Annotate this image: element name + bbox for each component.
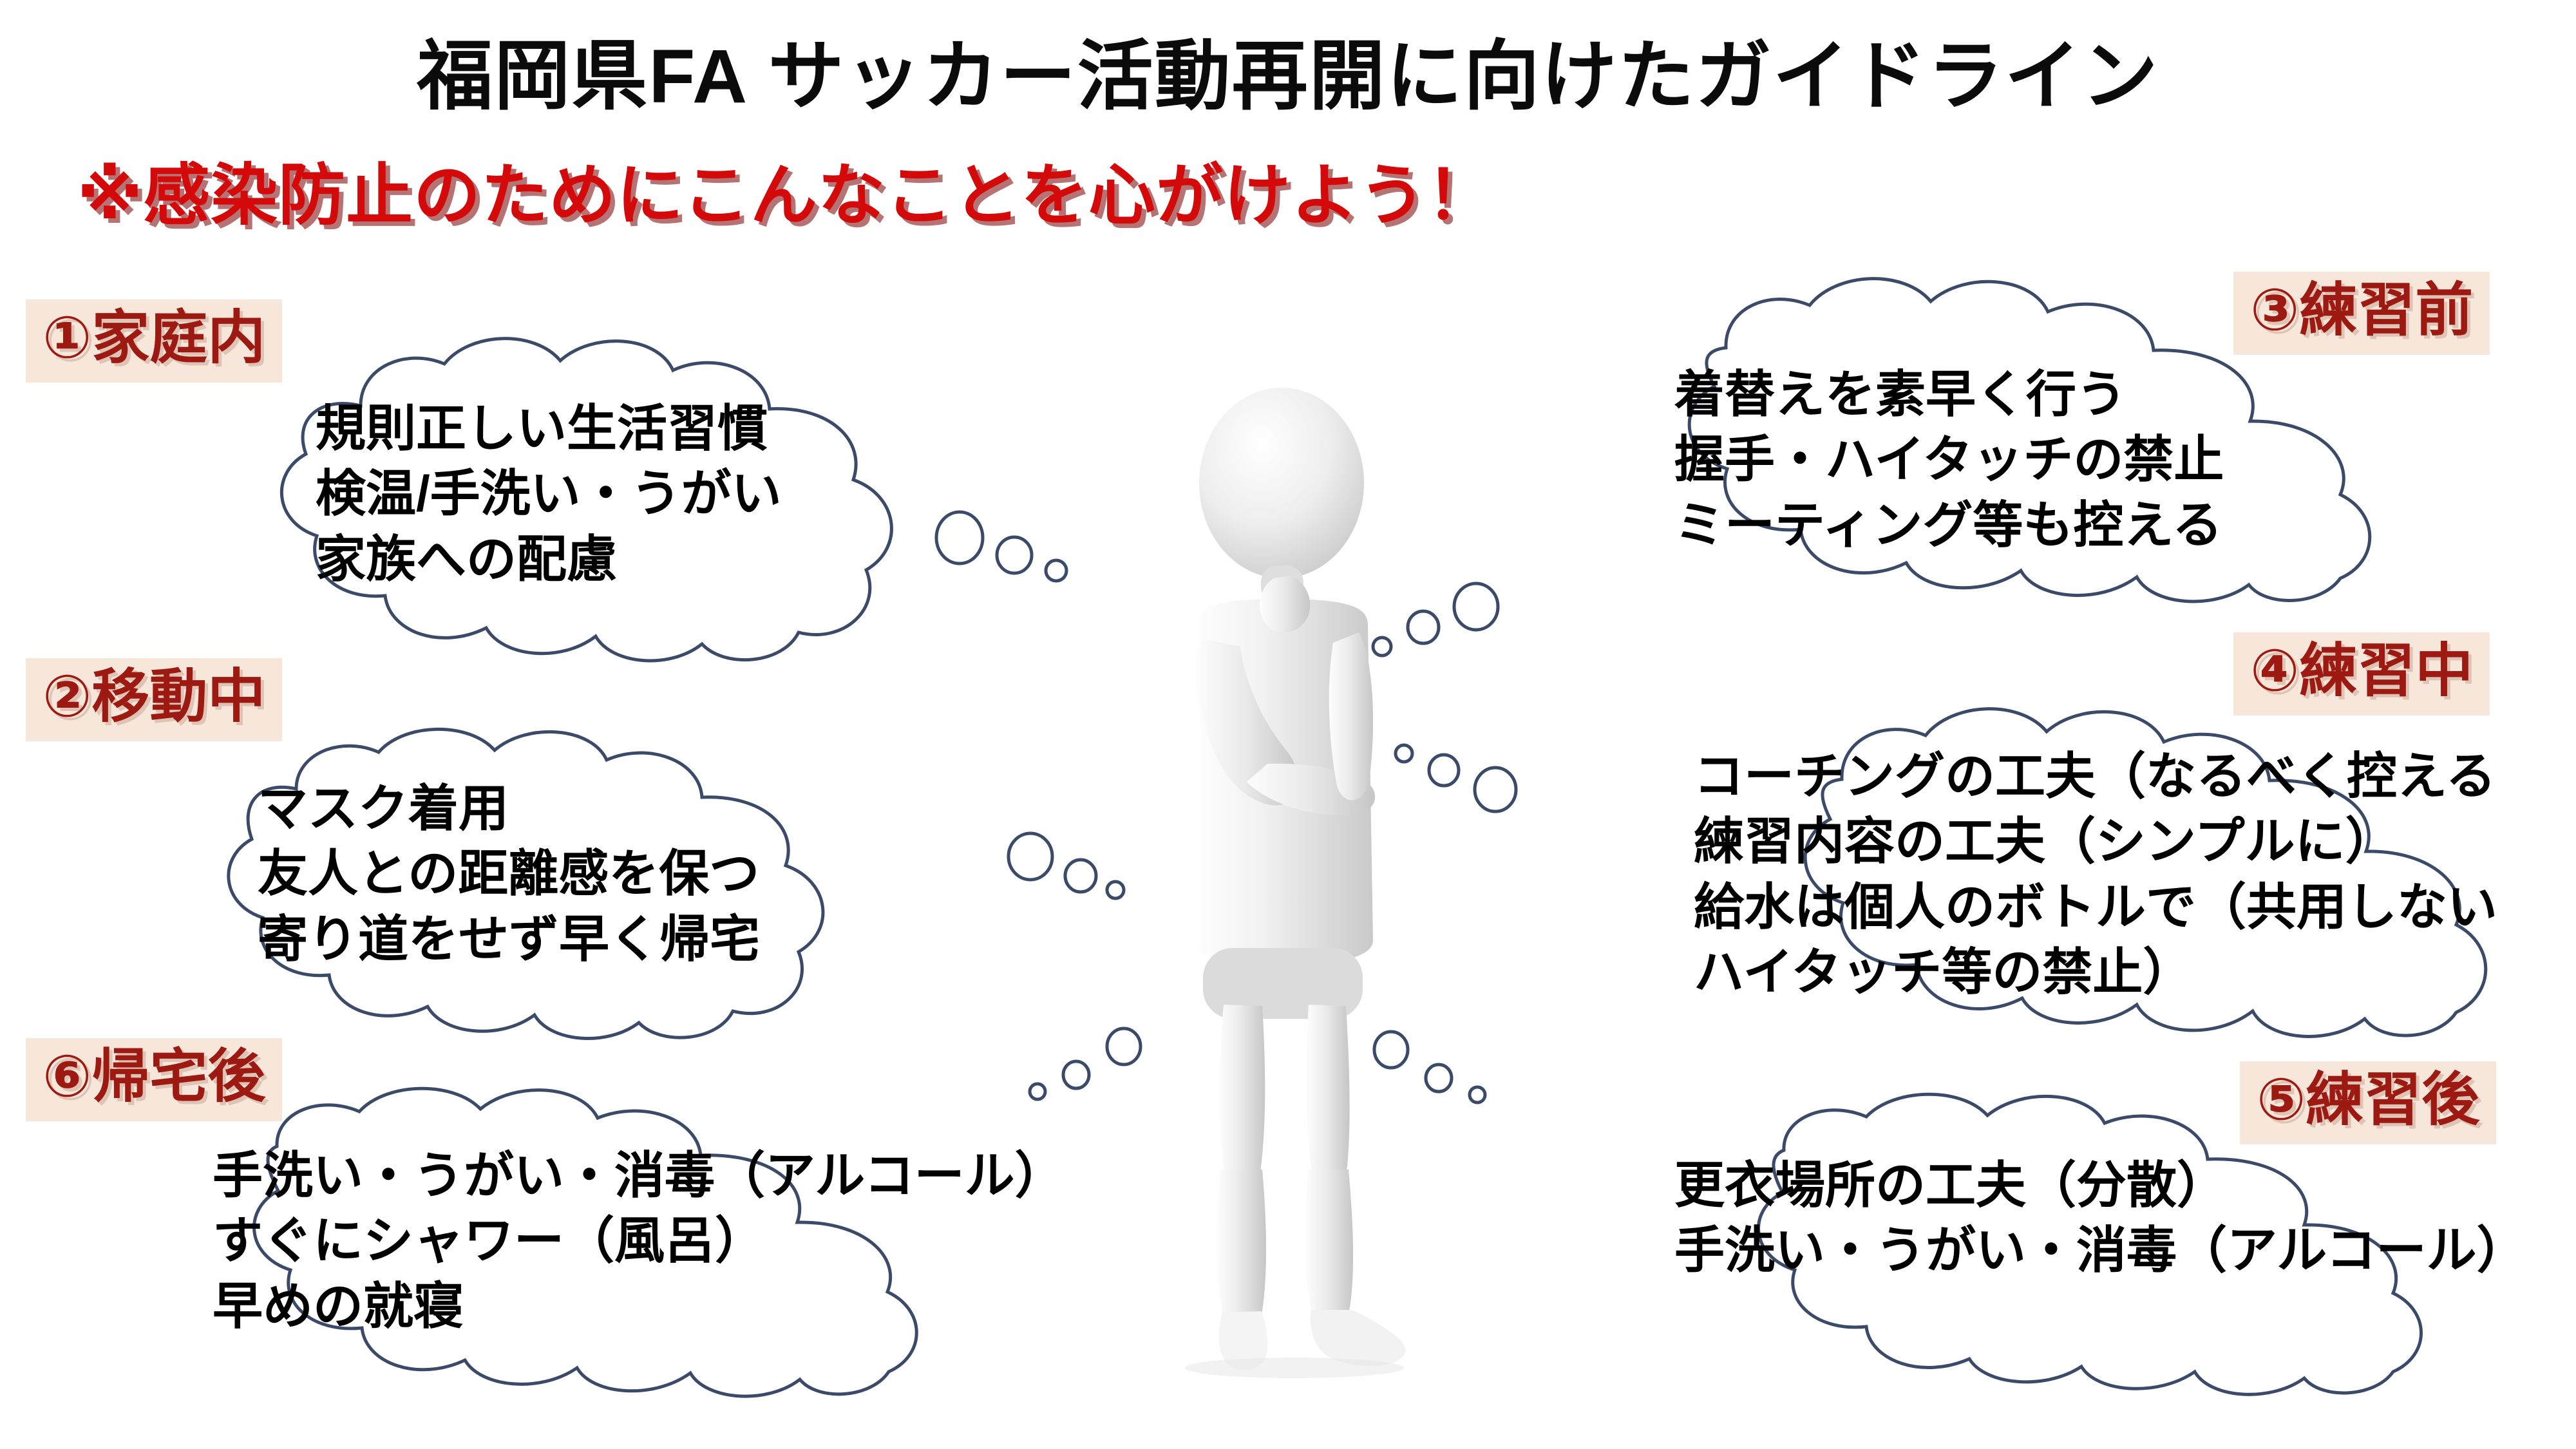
cloud-text-before-practice: 着替えを素早く行う 握手・ハイタッチの禁止 ミーティング等も控える (1674, 362, 2224, 558)
section-chip-after-practice: ⑤練習後 (2240, 1061, 2496, 1144)
section-chip-before-practice: ③練習前 (2233, 272, 2490, 355)
page-title: 福岡県FA サッカー活動再開に向けたガイドライン (0, 14, 2576, 124)
cloud-line: すぐにシャワー（風呂） (213, 1208, 1065, 1273)
section-chip-commute: ②移動中 (26, 658, 282, 741)
cloud-line: 規則正しい生活習慣 (316, 396, 782, 461)
thinking-person-figure (1121, 386, 1455, 1378)
thought-bubble-trail-commute (1005, 831, 1127, 902)
cloud-line: 早めの就寝 (213, 1274, 1065, 1339)
cloud-text-after-home: 手洗い・うがい・消毒（アルコール） すぐにシャワー（風呂） 早めの就寝 (213, 1143, 1065, 1339)
cloud-line: マスク着用 (258, 776, 760, 841)
cloud-text-commute: マスク着用 友人との距離感を保つ 寄り道をせず早く帰宅 (258, 776, 760, 972)
cloud-line: 友人との距離感を保つ (258, 841, 760, 906)
cloud-line: 家族への配慮 (316, 527, 782, 592)
thought-bubble-trail-home (934, 509, 1075, 586)
cloud-text-after-practice: 更衣場所の工夫（分散） 手洗い・うがい・消毒（アルコール） (1674, 1153, 2527, 1283)
cloud-line: 練習内容の工夫（シンプルに） (1694, 809, 2497, 874)
cloud-line: 手洗い・うがい・消毒（アルコール） (213, 1143, 1065, 1208)
section-chip-home: ①家庭内 (26, 299, 282, 383)
cloud-line: 寄り道をせず早く帰宅 (258, 907, 760, 972)
cloud-line: ミーティング等も控える (1674, 493, 2224, 558)
cloud-text-home: 規則正しい生活習慣 検温/手洗い・うがい 家族への配慮 (316, 396, 782, 592)
guideline-poster: 福岡県FA サッカー活動再開に向けたガイドライン ※感染防止のためにこんなことを… (0, 0, 2576, 1449)
cloud-line: ハイタッチ等の禁止） (1694, 940, 2497, 1005)
cloud-line: 握手・ハイタッチの禁止 (1674, 427, 2224, 492)
cloud-line: 更衣場所の工夫（分散） (1674, 1153, 2527, 1218)
section-chip-during-practice: ④練習中 (2233, 632, 2490, 715)
section-chip-after-home: ⑥帰宅後 (26, 1038, 282, 1121)
cloud-line: 手洗い・うがい・消毒（アルコール） (1674, 1218, 2527, 1283)
cloud-text-during-practice: コーチングの工夫（なるべく控える 練習内容の工夫（シンプルに） 給水は個人のボト… (1694, 744, 2497, 1005)
page-subtitle: ※感染防止のためにこんなことを心がけよう！ (77, 140, 1494, 238)
cloud-line: コーチングの工夫（なるべく控える (1694, 744, 2497, 809)
cloud-line: 給水は個人のボトルで（共用しない (1694, 875, 2497, 940)
cloud-line: 着替えを素早く行う (1674, 362, 2224, 427)
cloud-line: 検温/手洗い・うがい (316, 461, 782, 526)
